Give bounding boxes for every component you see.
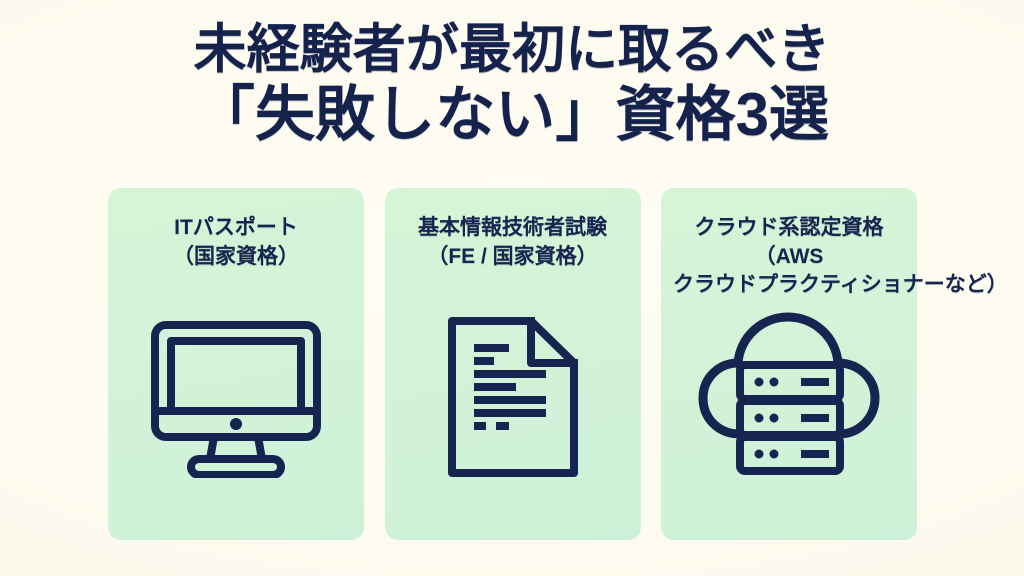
certification-card-it-passport[interactable]: ITパスポート （国家資格） bbox=[108, 188, 364, 540]
page-title-line-2: 「失敗しない」資格3選 bbox=[0, 83, 1024, 147]
card-icon-wrapper bbox=[385, 316, 641, 478]
server-rack-row bbox=[740, 401, 840, 435]
card-title: ITパスポート （国家資格） bbox=[120, 214, 352, 271]
server-rack-row bbox=[740, 365, 840, 399]
page-title-line-1: 未経験者が最初に取るべき bbox=[0, 22, 1024, 79]
card-icon-wrapper bbox=[108, 320, 364, 478]
card-title-line-1: 基本情報技術者試験 bbox=[397, 214, 629, 243]
server-rack-row bbox=[740, 437, 840, 471]
card-title-line-2: （AWS クラウドプラクティショナーなど） bbox=[673, 243, 905, 300]
certification-card-cloud[interactable]: クラウド系認定資格 （AWS クラウドプラクティショナーなど） bbox=[661, 188, 917, 540]
card-title: クラウド系認定資格 （AWS クラウドプラクティショナーなど） bbox=[673, 214, 905, 300]
card-title-line-1: クラウド系認定資格 bbox=[673, 214, 905, 243]
card-title-line-2: （FE / 国家資格） bbox=[397, 243, 629, 272]
card-title-line-2: （国家資格） bbox=[120, 243, 352, 272]
cloud-server-icon bbox=[693, 308, 885, 480]
certification-card-row: ITパスポート （国家資格） 基本情報技術者試験 bbox=[108, 188, 917, 540]
card-title: 基本情報技術者試験 （FE / 国家資格） bbox=[397, 214, 629, 271]
slide-canvas: 未経験者が最初に取るべき 「失敗しない」資格3選 ITパスポート （国家資格） bbox=[0, 0, 1024, 576]
card-title-line-1: ITパスポート bbox=[120, 214, 352, 243]
document-page-icon bbox=[447, 316, 579, 478]
desktop-monitor-icon bbox=[150, 320, 322, 478]
certification-card-fe-exam[interactable]: 基本情報技術者試験 （FE / 国家資格） bbox=[385, 188, 641, 540]
page-title: 未経験者が最初に取るべき 「失敗しない」資格3選 bbox=[0, 22, 1024, 147]
card-icon-wrapper bbox=[661, 308, 917, 480]
